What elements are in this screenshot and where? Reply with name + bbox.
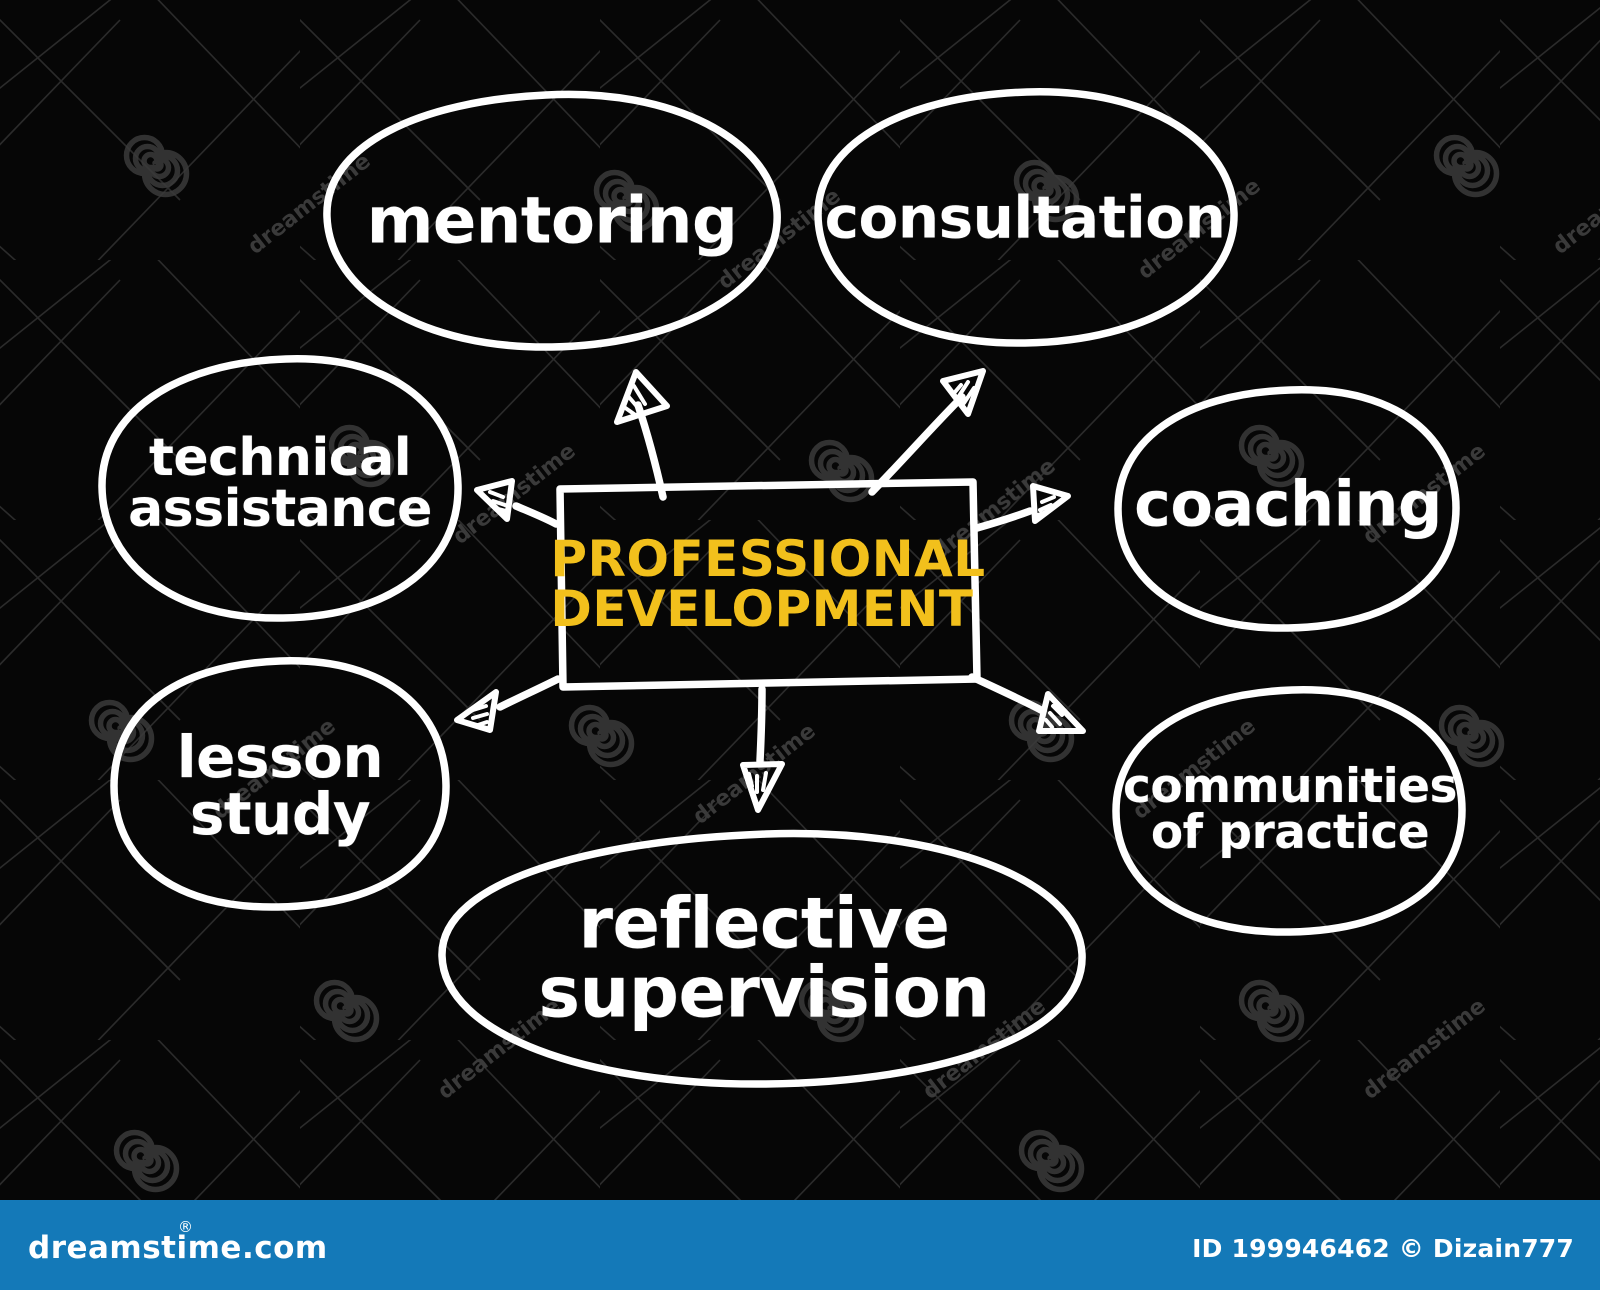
node-shape-technical-assistance[interactable] [102,359,458,618]
connector-center-to-communities-of-practice [972,677,1083,731]
node-shape-lesson-study[interactable] [114,661,446,907]
watermark-footer-bar: dreamstime.com ® ID 199946462 © Dizain77… [0,1200,1600,1290]
connector-center-to-coaching [977,486,1068,528]
arrowhead-icon [457,692,496,730]
node-shape-mentoring[interactable] [327,94,777,347]
arrowhead-icon [743,764,782,810]
connector-center-to-technical-assistance [477,481,556,524]
node-shape-communities-of-practice[interactable] [1116,690,1462,932]
arrowhead-icon [617,372,667,422]
connector-center-to-reflective-supervision [743,689,782,810]
dreamstime-brand-logo: dreamstime.com ® [28,1230,328,1266]
arrowhead-icon [1039,694,1083,731]
connector-center-to-consultation [872,371,983,492]
center-node-shape[interactable] [560,482,977,687]
node-shape-coaching[interactable] [1118,390,1456,628]
node-shape-reflective-supervision[interactable] [442,834,1082,1085]
node-shape-consultation[interactable] [818,92,1234,343]
arrowhead-icon [477,481,512,519]
connector-center-to-lesson-study [457,679,558,730]
image-credit: ID 199946462 © Dizain777 [1192,1234,1574,1263]
mind-map-canvas: dreamstime dreamstime dreamstime dreamst… [0,0,1600,1290]
diagram-area: dreamstime dreamstime dreamstime dreamst… [0,0,1600,1290]
registered-mark-icon: ® [178,1218,194,1236]
shapes-layer: .hand { fill:none; stroke:#ffffff; strok… [0,0,1600,1290]
connector-center-to-mentoring [617,372,667,497]
arrowhead-icon [1033,486,1068,521]
